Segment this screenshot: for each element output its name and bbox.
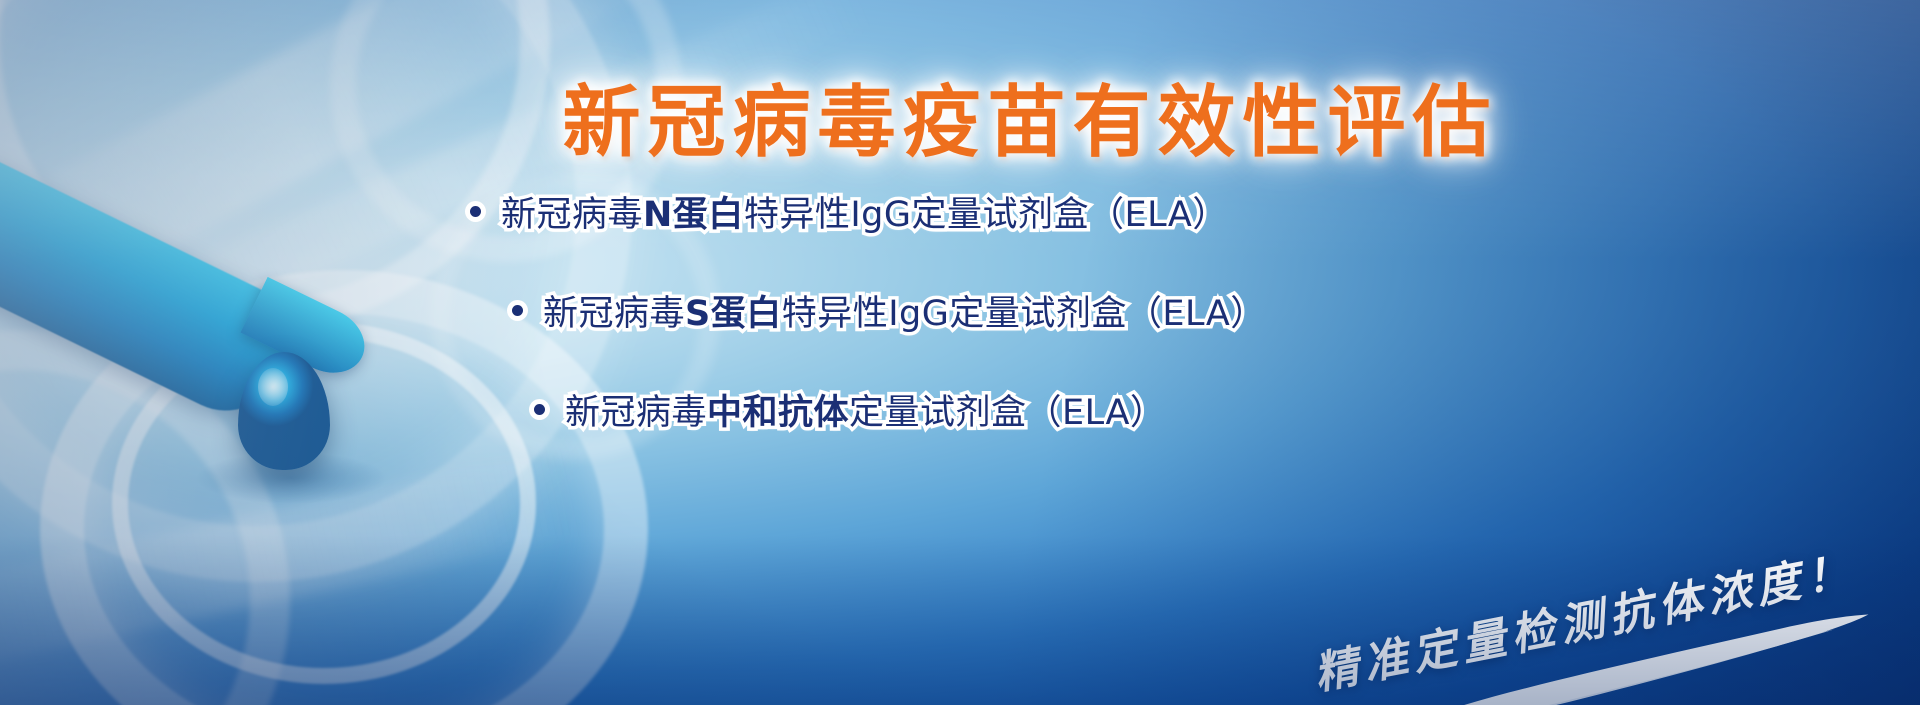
banner-title: 新冠病毒疫苗有效性评估	[562, 60, 1497, 172]
title-container: 新冠病毒疫苗有效性评估	[0, 60, 1920, 172]
bullet-text-emphasis: N蛋白	[643, 186, 744, 237]
bullet-text-prefix: 新冠病毒	[543, 285, 685, 336]
promo-banner: 新冠病毒疫苗有效性评估 新冠病毒N蛋白特异性IgG定量试剂盒（ELA） 新冠病毒…	[0, 0, 1920, 705]
bullet-text-prefix: 新冠病毒	[565, 384, 707, 435]
bullet-text-suffix: 定量试剂盒（ELA）	[849, 384, 1165, 435]
bullet-text-suffix: 特异性IgG定量试剂盒（ELA）	[744, 186, 1228, 237]
bullet-list: 新冠病毒N蛋白特异性IgG定量试剂盒（ELA） 新冠病毒S蛋白特异性IgG定量试…	[0, 186, 1920, 435]
bullet-text-suffix: 特异性IgG定量试剂盒（ELA）	[782, 285, 1266, 336]
bullet-item-s-protein: 新冠病毒S蛋白特异性IgG定量试剂盒（ELA）	[0, 285, 1920, 336]
bullet-dot-icon	[470, 206, 481, 217]
bullet-dot-icon	[512, 305, 523, 316]
bullet-text-prefix: 新冠病毒	[501, 186, 643, 237]
bullet-text-emphasis: 中和抗体	[707, 384, 849, 435]
bullet-item-n-protein: 新冠病毒N蛋白特异性IgG定量试剂盒（ELA）	[0, 186, 1920, 237]
bullet-item-neutralizing-antibody: 新冠病毒中和抗体定量试剂盒（ELA）	[0, 384, 1920, 435]
bullet-text-emphasis: S蛋白	[685, 285, 782, 336]
bullet-dot-icon	[534, 404, 545, 415]
